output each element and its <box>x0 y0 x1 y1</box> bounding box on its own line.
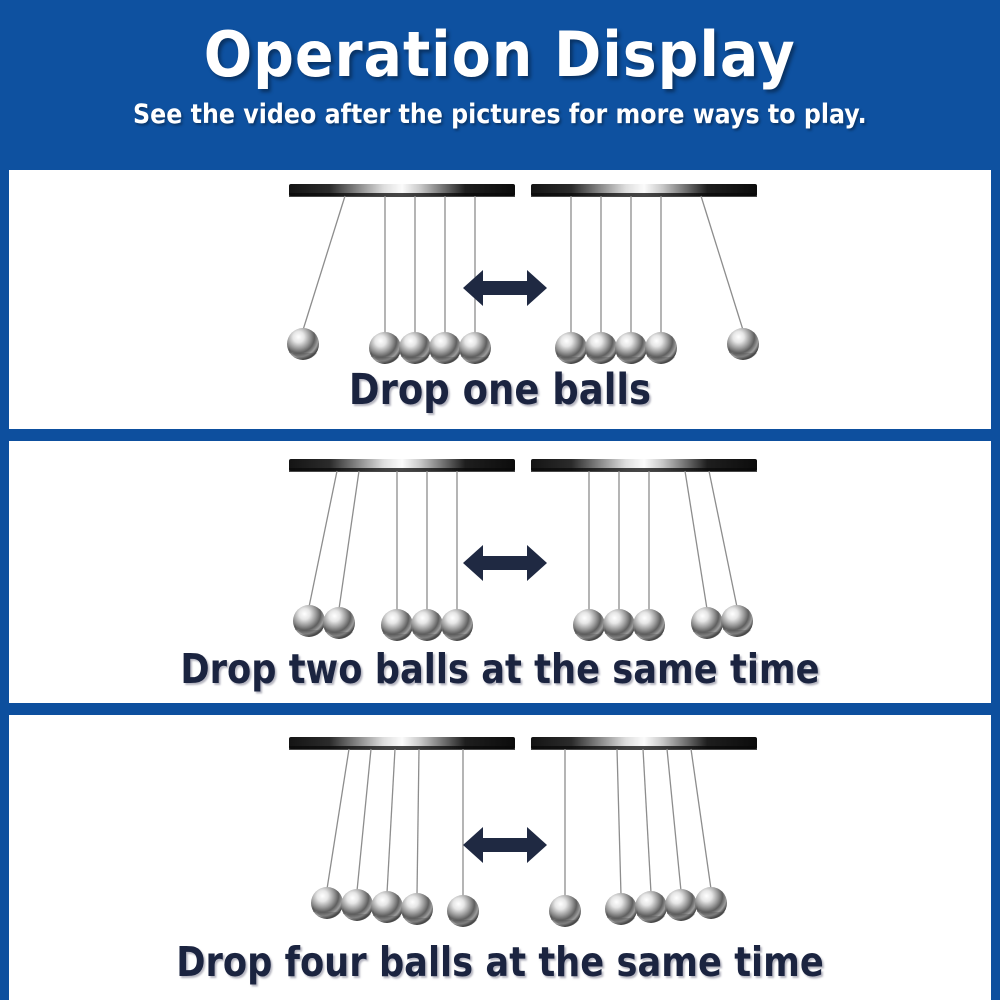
right-cradle-2 <box>529 459 759 644</box>
panel-caption: Drop one balls <box>78 365 923 415</box>
panel-caption: Drop two balls at the same time <box>78 645 923 693</box>
newtons-cradle-graphic <box>529 184 759 369</box>
panel-stack: Drop one balls <box>0 170 1000 1000</box>
right-cradle-1 <box>529 184 759 369</box>
panel-one-ball: Drop one balls <box>9 170 991 429</box>
header-banner: Operation Display See the video after th… <box>0 0 1000 170</box>
double-arrow-horizontal-icon <box>461 541 549 585</box>
panel-caption: Drop four balls at the same time <box>78 938 923 986</box>
page-subtitle: See the video after the pictures for mor… <box>133 99 867 130</box>
panel-two-balls: Drop two balls at the same time <box>9 441 991 703</box>
operation-display-page: Operation Display See the video after th… <box>0 0 1000 1000</box>
right-cradle-3 <box>529 737 759 937</box>
newtons-cradle-graphic <box>529 737 759 937</box>
double-arrow-horizontal-icon <box>461 823 549 867</box>
double-arrow-horizontal-icon <box>461 266 549 310</box>
panel-four-balls: Drop four balls at the same time <box>9 715 991 1000</box>
page-title: Operation Display <box>204 22 796 87</box>
newtons-cradle-graphic <box>529 459 759 644</box>
